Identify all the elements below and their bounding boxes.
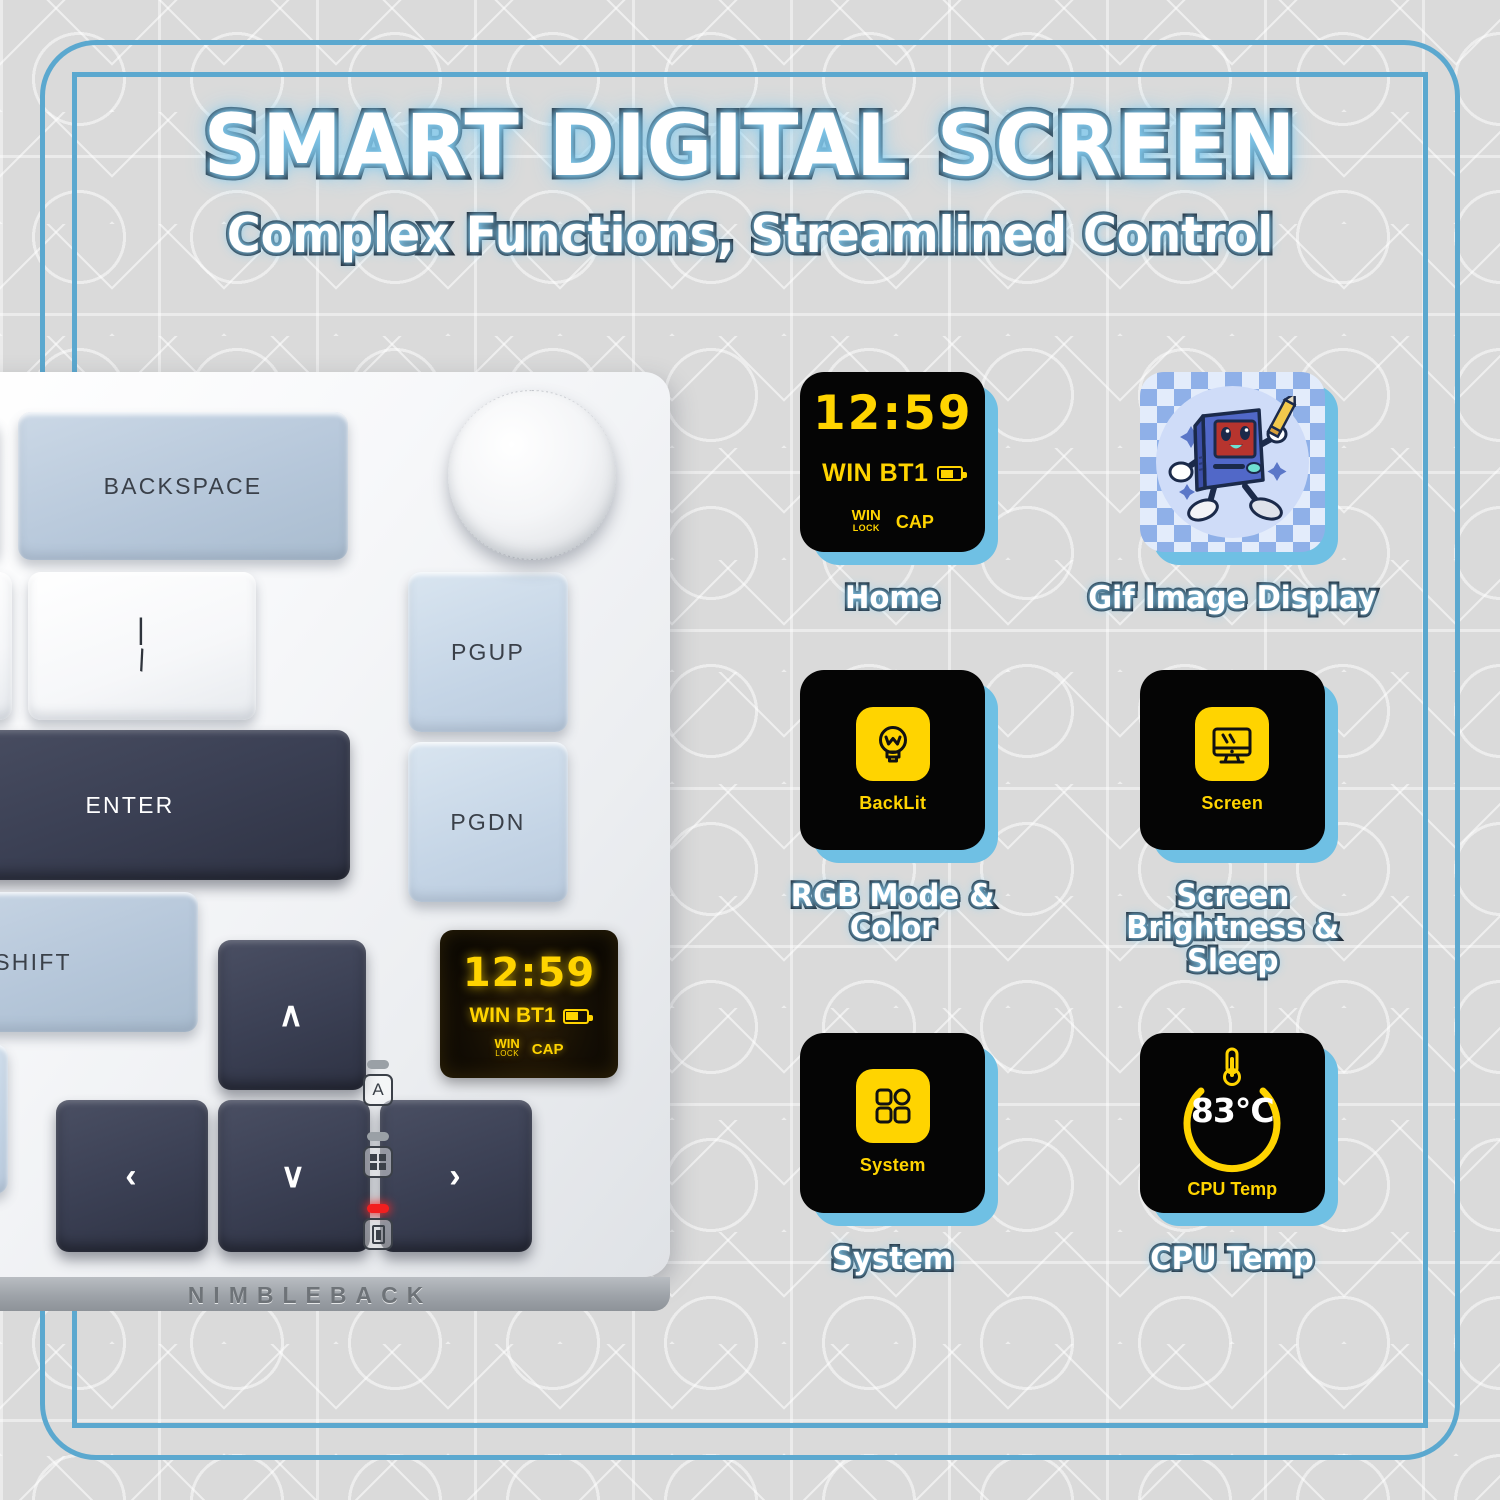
feature-cell-cpu: 83°C CPU Temp CPU Temp: [1075, 1033, 1391, 1275]
feature-cell-system: System System: [735, 1033, 1051, 1275]
win-lock-indicator: [360, 1132, 396, 1178]
header-block: SMART DIGITAL SCREEN Complex Functions, …: [0, 96, 1500, 264]
home-caps: CAP: [896, 512, 934, 533]
caption-home: Home: [845, 582, 940, 614]
onboard-lock-row: WIN LOCK CAP: [495, 1037, 564, 1058]
onboard-caps: CAP: [532, 1041, 564, 1058]
battery-led: [367, 1204, 389, 1213]
key-pgdn-label: PGDN: [450, 809, 525, 836]
feature-cell-screen: Screen Screen Brightness & Sleep: [1075, 670, 1391, 977]
arrow-right-icon: ›: [449, 1159, 463, 1193]
keyboard-product-photo: NIMBLEBACK BACKSPACE } ] | \ ENTER SHIFT…: [0, 372, 672, 1312]
key-arrow-right[interactable]: ›: [380, 1100, 532, 1252]
feature-grid: 12:59 WIN BT1 WIN LOCK CAP Home: [735, 372, 1390, 1275]
key-enter[interactable]: ENTER: [0, 730, 350, 880]
page-subtitle: Complex Functions, Streamlined Control: [60, 206, 1440, 264]
home-status-row: WIN BT1: [822, 459, 963, 488]
arrow-left-icon: ‹: [125, 1159, 139, 1193]
thermometer-icon: [1225, 1049, 1240, 1085]
home-mode: WIN BT1: [822, 459, 928, 488]
screen-tile: [1195, 707, 1269, 781]
card-shadow-system: System: [800, 1033, 985, 1213]
volume-knob[interactable]: [448, 390, 616, 560]
caption-backlit: RGB Mode & Color: [744, 880, 1041, 944]
card-system[interactable]: System: [800, 1033, 985, 1213]
card-backlit[interactable]: BackLit: [800, 670, 985, 850]
card-shadow-home: 12:59 WIN BT1 WIN LOCK CAP: [800, 372, 985, 552]
status-indicator-column: A: [360, 1060, 396, 1276]
feature-cell-home: 12:59 WIN BT1 WIN LOCK CAP Home: [735, 372, 1051, 614]
arrow-down-icon: ∨: [280, 1159, 307, 1193]
feature-cell-gif: Gif Image Display: [1075, 372, 1391, 614]
home-battery-icon: [937, 466, 963, 481]
onboard-mode: WIN BT1: [469, 1004, 555, 1028]
key-pgdn[interactable]: PGDN: [408, 742, 568, 902]
onboard-winlock: WIN LOCK: [495, 1037, 520, 1058]
key-pipe-lower: \: [132, 646, 151, 678]
key-right-bracket[interactable]: } ]: [0, 572, 12, 720]
battery-indicator: [360, 1204, 396, 1250]
caption-system: System: [832, 1243, 953, 1275]
caps-lock-icon: A: [363, 1074, 393, 1106]
card-shadow-screen: Screen: [1140, 670, 1325, 850]
key-pgup[interactable]: PGUP: [408, 572, 568, 732]
cpu-temp-value: 83°C: [1157, 1091, 1307, 1130]
card-screen[interactable]: Screen: [1140, 670, 1325, 850]
battery-icon: [363, 1218, 393, 1250]
page-title: SMART DIGITAL SCREEN: [53, 96, 1448, 196]
system-tile: [856, 1069, 930, 1143]
product-feature-poster: SMART DIGITAL SCREEN Complex Functions, …: [0, 0, 1500, 1500]
backlit-tile-label: BackLit: [859, 793, 926, 814]
key-pgup-label: PGUP: [451, 639, 525, 666]
onboard-battery-icon: [563, 1009, 589, 1024]
caps-lock-led: [367, 1060, 389, 1069]
key-backspace-label: BACKSPACE: [104, 473, 263, 500]
lightbulb-icon: [869, 720, 917, 768]
onboard-winlock-bottom: LOCK: [495, 1050, 519, 1058]
key-enter-label: ENTER: [86, 792, 175, 819]
cpu-temp-label: CPU Temp: [1187, 1179, 1277, 1200]
card-gif-display[interactable]: [1140, 372, 1325, 552]
key-shift[interactable]: SHIFT: [0, 892, 198, 1032]
key-backslash[interactable]: | \: [28, 572, 256, 720]
retro-computer-mascot-icon: [1167, 396, 1297, 528]
card-shadow-cpu: 83°C CPU Temp: [1140, 1033, 1325, 1213]
caption-cpu: CPU Temp: [1150, 1243, 1314, 1275]
key-backspace[interactable]: BACKSPACE: [18, 412, 348, 560]
caps-lock-indicator: A: [360, 1060, 396, 1106]
onboard-status-row: WIN BT1: [469, 1004, 588, 1028]
card-shadow-backlit: BackLit: [800, 670, 985, 850]
backlit-tile: [856, 707, 930, 781]
home-winlock: WIN LOCK: [852, 508, 881, 533]
home-lock-row: WIN LOCK CAP: [852, 508, 934, 533]
key-arrow-left[interactable]: ‹: [56, 1100, 208, 1252]
monitor-icon: [1208, 720, 1256, 768]
caption-gif: Gif Image Display: [1088, 582, 1377, 614]
key-partial-ctrl[interactable]: L: [0, 1044, 8, 1194]
home-time: 12:59: [813, 390, 973, 437]
key-pipe-upper: |: [137, 615, 147, 645]
app-grid-icon: [870, 1083, 916, 1129]
keyboard-brand-label: NIMBLEBACK: [100, 1282, 520, 1309]
key-shift-label: SHIFT: [0, 949, 72, 976]
card-cpu-temp[interactable]: 83°C CPU Temp: [1140, 1033, 1325, 1213]
cpu-gauge: 83°C: [1157, 1045, 1307, 1173]
win-lock-led: [367, 1132, 389, 1141]
key-arrow-up[interactable]: ∧: [218, 940, 366, 1090]
arrow-up-icon: ∧: [278, 998, 305, 1032]
screen-tile-label: Screen: [1201, 793, 1263, 814]
home-winlock-bottom: LOCK: [853, 524, 880, 533]
keyboard-onboard-screen[interactable]: 12:59 WIN BT1 WIN LOCK CAP: [440, 930, 618, 1078]
feature-cell-backlit: BackLit RGB Mode & Color: [735, 670, 1051, 977]
caption-screen: Screen Brightness & Sleep: [1084, 880, 1381, 977]
system-tile-label: System: [860, 1155, 926, 1176]
onboard-time: 12:59: [463, 950, 595, 996]
key-arrow-down[interactable]: ∨: [218, 1100, 370, 1252]
win-lock-icon: [363, 1146, 393, 1178]
home-winlock-top: WIN: [852, 508, 881, 524]
card-shadow-gif: [1140, 372, 1325, 552]
card-home[interactable]: 12:59 WIN BT1 WIN LOCK CAP: [800, 372, 985, 552]
